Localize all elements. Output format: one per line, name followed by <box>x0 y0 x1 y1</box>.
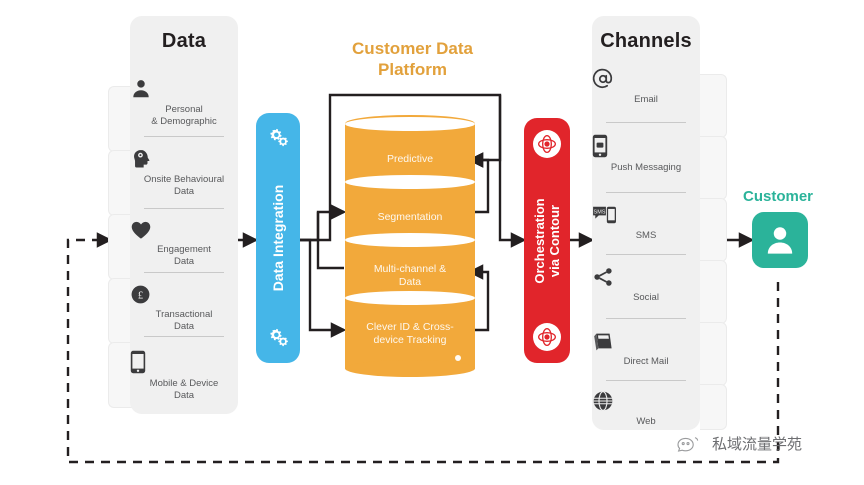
channel-tab-6 <box>700 384 727 430</box>
channel-item-email[interactable]: Email <box>592 68 700 106</box>
data-item-label: Onsite Behavioural Data <box>130 174 238 197</box>
divider <box>606 318 686 319</box>
data-item-label: Personal & Demographic <box>130 104 238 127</box>
gears-icon <box>266 127 290 149</box>
user-avatar-icon <box>763 223 797 257</box>
gears-icon <box>266 327 290 349</box>
data-item-personal[interactable]: Personal & Demographic <box>130 78 238 127</box>
sms-bubble-icon: SMS <box>592 204 700 226</box>
cylinder-rim <box>345 233 475 247</box>
cylinder-clever-id[interactable]: Clever ID & Cross- device Tracking <box>345 289 475 377</box>
globe-icon <box>592 390 700 412</box>
channel-item-label: Direct Mail <box>592 356 700 368</box>
line-segmentation-branch <box>318 212 344 268</box>
divider <box>606 254 686 255</box>
divider <box>606 380 686 381</box>
cylinder-dot <box>455 355 461 361</box>
channel-item-web[interactable]: Web <box>592 390 700 428</box>
channels-panel: Channels Email Push Messaging SMS SMS <box>592 16 700 430</box>
channel-item-label: Social <box>592 292 700 304</box>
cylinder-rim <box>345 291 475 305</box>
data-item-mobile-device[interactable]: Mobile & Device Data <box>130 350 238 401</box>
divider <box>606 192 686 193</box>
data-panel-title: Data <box>130 30 238 53</box>
diagram-canvas: Data Personal & Demographic Onsite Behav… <box>0 0 864 485</box>
mobile-phone-icon <box>130 350 238 374</box>
watermark: 私域流量学苑 <box>676 433 802 454</box>
divider <box>606 122 686 123</box>
channel-item-label: Push Messaging <box>592 162 700 174</box>
channel-tab-1 <box>700 74 727 138</box>
customer-label: Customer <box>728 188 828 205</box>
data-item-transactional[interactable]: £ Transactional Data <box>130 284 238 332</box>
data-integration-bar[interactable]: Data Integration <box>256 113 300 363</box>
divider <box>144 136 224 137</box>
channel-item-sms[interactable]: SMS SMS <box>592 204 700 242</box>
share-nodes-icon <box>592 266 700 288</box>
cdp-title: Customer Data Platform <box>325 38 500 80</box>
data-item-label: Mobile & Device Data <box>130 378 238 401</box>
channel-item-direct-mail[interactable]: Direct Mail <box>592 330 700 368</box>
divider <box>144 208 224 209</box>
orchestration-bar[interactable]: Orchestration via Contour <box>524 118 570 363</box>
svg-text:£: £ <box>138 291 143 302</box>
heart-icon <box>130 220 238 240</box>
orchestration-label: Orchestration via Contour <box>532 198 562 283</box>
channel-item-push-messaging[interactable]: Push Messaging <box>592 134 700 174</box>
watermark-text: 私域流量学苑 <box>712 433 802 454</box>
arrow-integration-to-segmentation <box>300 212 344 240</box>
pound-coin-icon: £ <box>130 284 238 305</box>
cylinder-label: Segmentation <box>345 211 475 224</box>
cylinder-rim <box>345 117 475 131</box>
channel-item-social[interactable]: Social <box>592 266 700 304</box>
contour-badge-icon <box>533 323 561 351</box>
envelope-book-icon <box>592 330 700 352</box>
mascot-icon <box>676 435 706 453</box>
arrow-integration-to-cleverid <box>300 240 344 330</box>
data-item-label: Engagement Data <box>130 244 238 267</box>
person-icon <box>130 78 238 100</box>
data-item-engagement[interactable]: Engagement Data <box>130 220 238 267</box>
data-item-label: Transactional Data <box>130 309 238 332</box>
svg-text:SMS: SMS <box>594 210 606 216</box>
cylinder-bottom <box>345 360 475 377</box>
cylinder-label: Multi-channel & Data <box>345 263 475 289</box>
arrow-cdp-to-orchestration <box>500 95 524 240</box>
divider <box>144 272 224 273</box>
channel-item-label: Web <box>592 416 700 428</box>
customer-box[interactable] <box>752 212 808 268</box>
push-notification-icon <box>592 134 700 158</box>
data-item-onsite-behavioural[interactable]: Onsite Behavioural Data <box>130 148 238 197</box>
cylinder-label: Clever ID & Cross- device Tracking <box>345 321 475 347</box>
data-integration-label: Data Integration <box>270 185 286 292</box>
channel-tab-5 <box>700 322 727 386</box>
cylinder-rim <box>345 175 475 189</box>
head-gear-icon <box>130 148 238 170</box>
at-sign-icon <box>592 68 700 90</box>
channel-tab-3 <box>700 198 727 262</box>
channel-tab-4 <box>700 260 727 324</box>
contour-badge-icon <box>533 130 561 158</box>
cylinder-label: Predictive <box>345 153 475 166</box>
channel-tab-2 <box>700 136 727 200</box>
data-panel: Data Personal & Demographic Onsite Behav… <box>130 16 238 414</box>
channels-panel-title: Channels <box>592 30 700 53</box>
divider <box>144 336 224 337</box>
channel-item-label: Email <box>592 94 700 106</box>
channel-item-label: SMS <box>592 230 700 242</box>
